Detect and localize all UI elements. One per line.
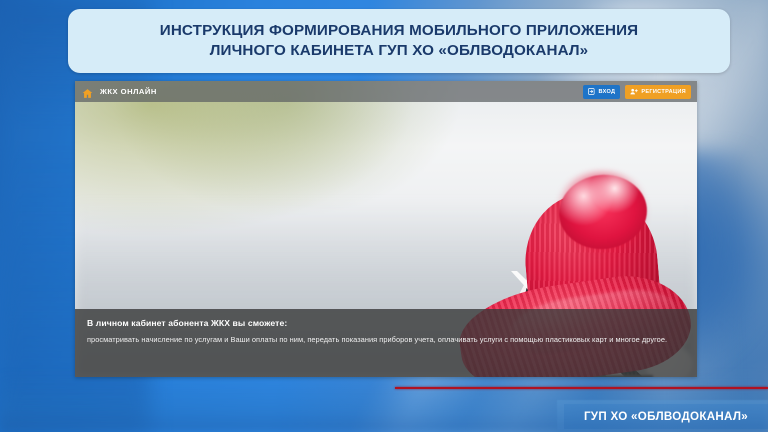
register-button-label: РЕГИСТРАЦИЯ <box>641 89 686 95</box>
title-banner: ИНСТРУКЦИЯ ФОРМИРОВАНИЯ МОБИЛЬНОГО ПРИЛО… <box>68 9 730 73</box>
user-plus-icon <box>630 88 638 95</box>
login-button[interactable]: ВХОД <box>583 85 620 99</box>
corner-badge-label: ГУП ХО «ОБЛВОДОКАНАЛ» <box>584 410 748 423</box>
site-brand-label: ЖКХ ОНЛАЙН <box>100 87 157 96</box>
info-panel-title: В личном кабинет абонента ЖКХ вы сможете… <box>87 318 685 328</box>
corner-badge: ГУП ХО «ОБЛВОДОКАНАЛ» <box>564 404 768 429</box>
home-icon <box>82 86 93 97</box>
slide-canvas: ИНСТРУКЦИЯ ФОРМИРОВАНИЯ МОБИЛЬНОГО ПРИЛО… <box>0 0 768 432</box>
login-arrow-icon <box>588 88 595 95</box>
register-button[interactable]: РЕГИСТРАЦИЯ <box>625 85 691 99</box>
site-brand[interactable]: ЖКХ ОНЛАЙН <box>82 86 157 97</box>
site-header-bar: ЖКХ ОНЛАЙН ВХОД <box>75 81 697 102</box>
site-header-actions: ВХОД РЕГИСТРАЦИЯ <box>583 85 691 99</box>
title-line-1: ИНСТРУКЦИЯ ФОРМИРОВАНИЯ МОБИЛЬНОГО ПРИЛО… <box>160 21 639 41</box>
info-panel-body: просматривать начисление по услугам и Ва… <box>87 334 685 346</box>
login-button-label: ВХОД <box>598 89 615 95</box>
website-screenshot: ЖКХ ОНЛАЙН ВХОД <box>75 81 697 377</box>
info-panel: В личном кабинет абонента ЖКХ вы сможете… <box>75 309 697 377</box>
red-accent-line <box>395 387 768 389</box>
title-line-2: ЛИЧНОГО КАБИНЕТА ГУП ХО «ОБЛВОДОКАНАЛ» <box>210 41 589 61</box>
